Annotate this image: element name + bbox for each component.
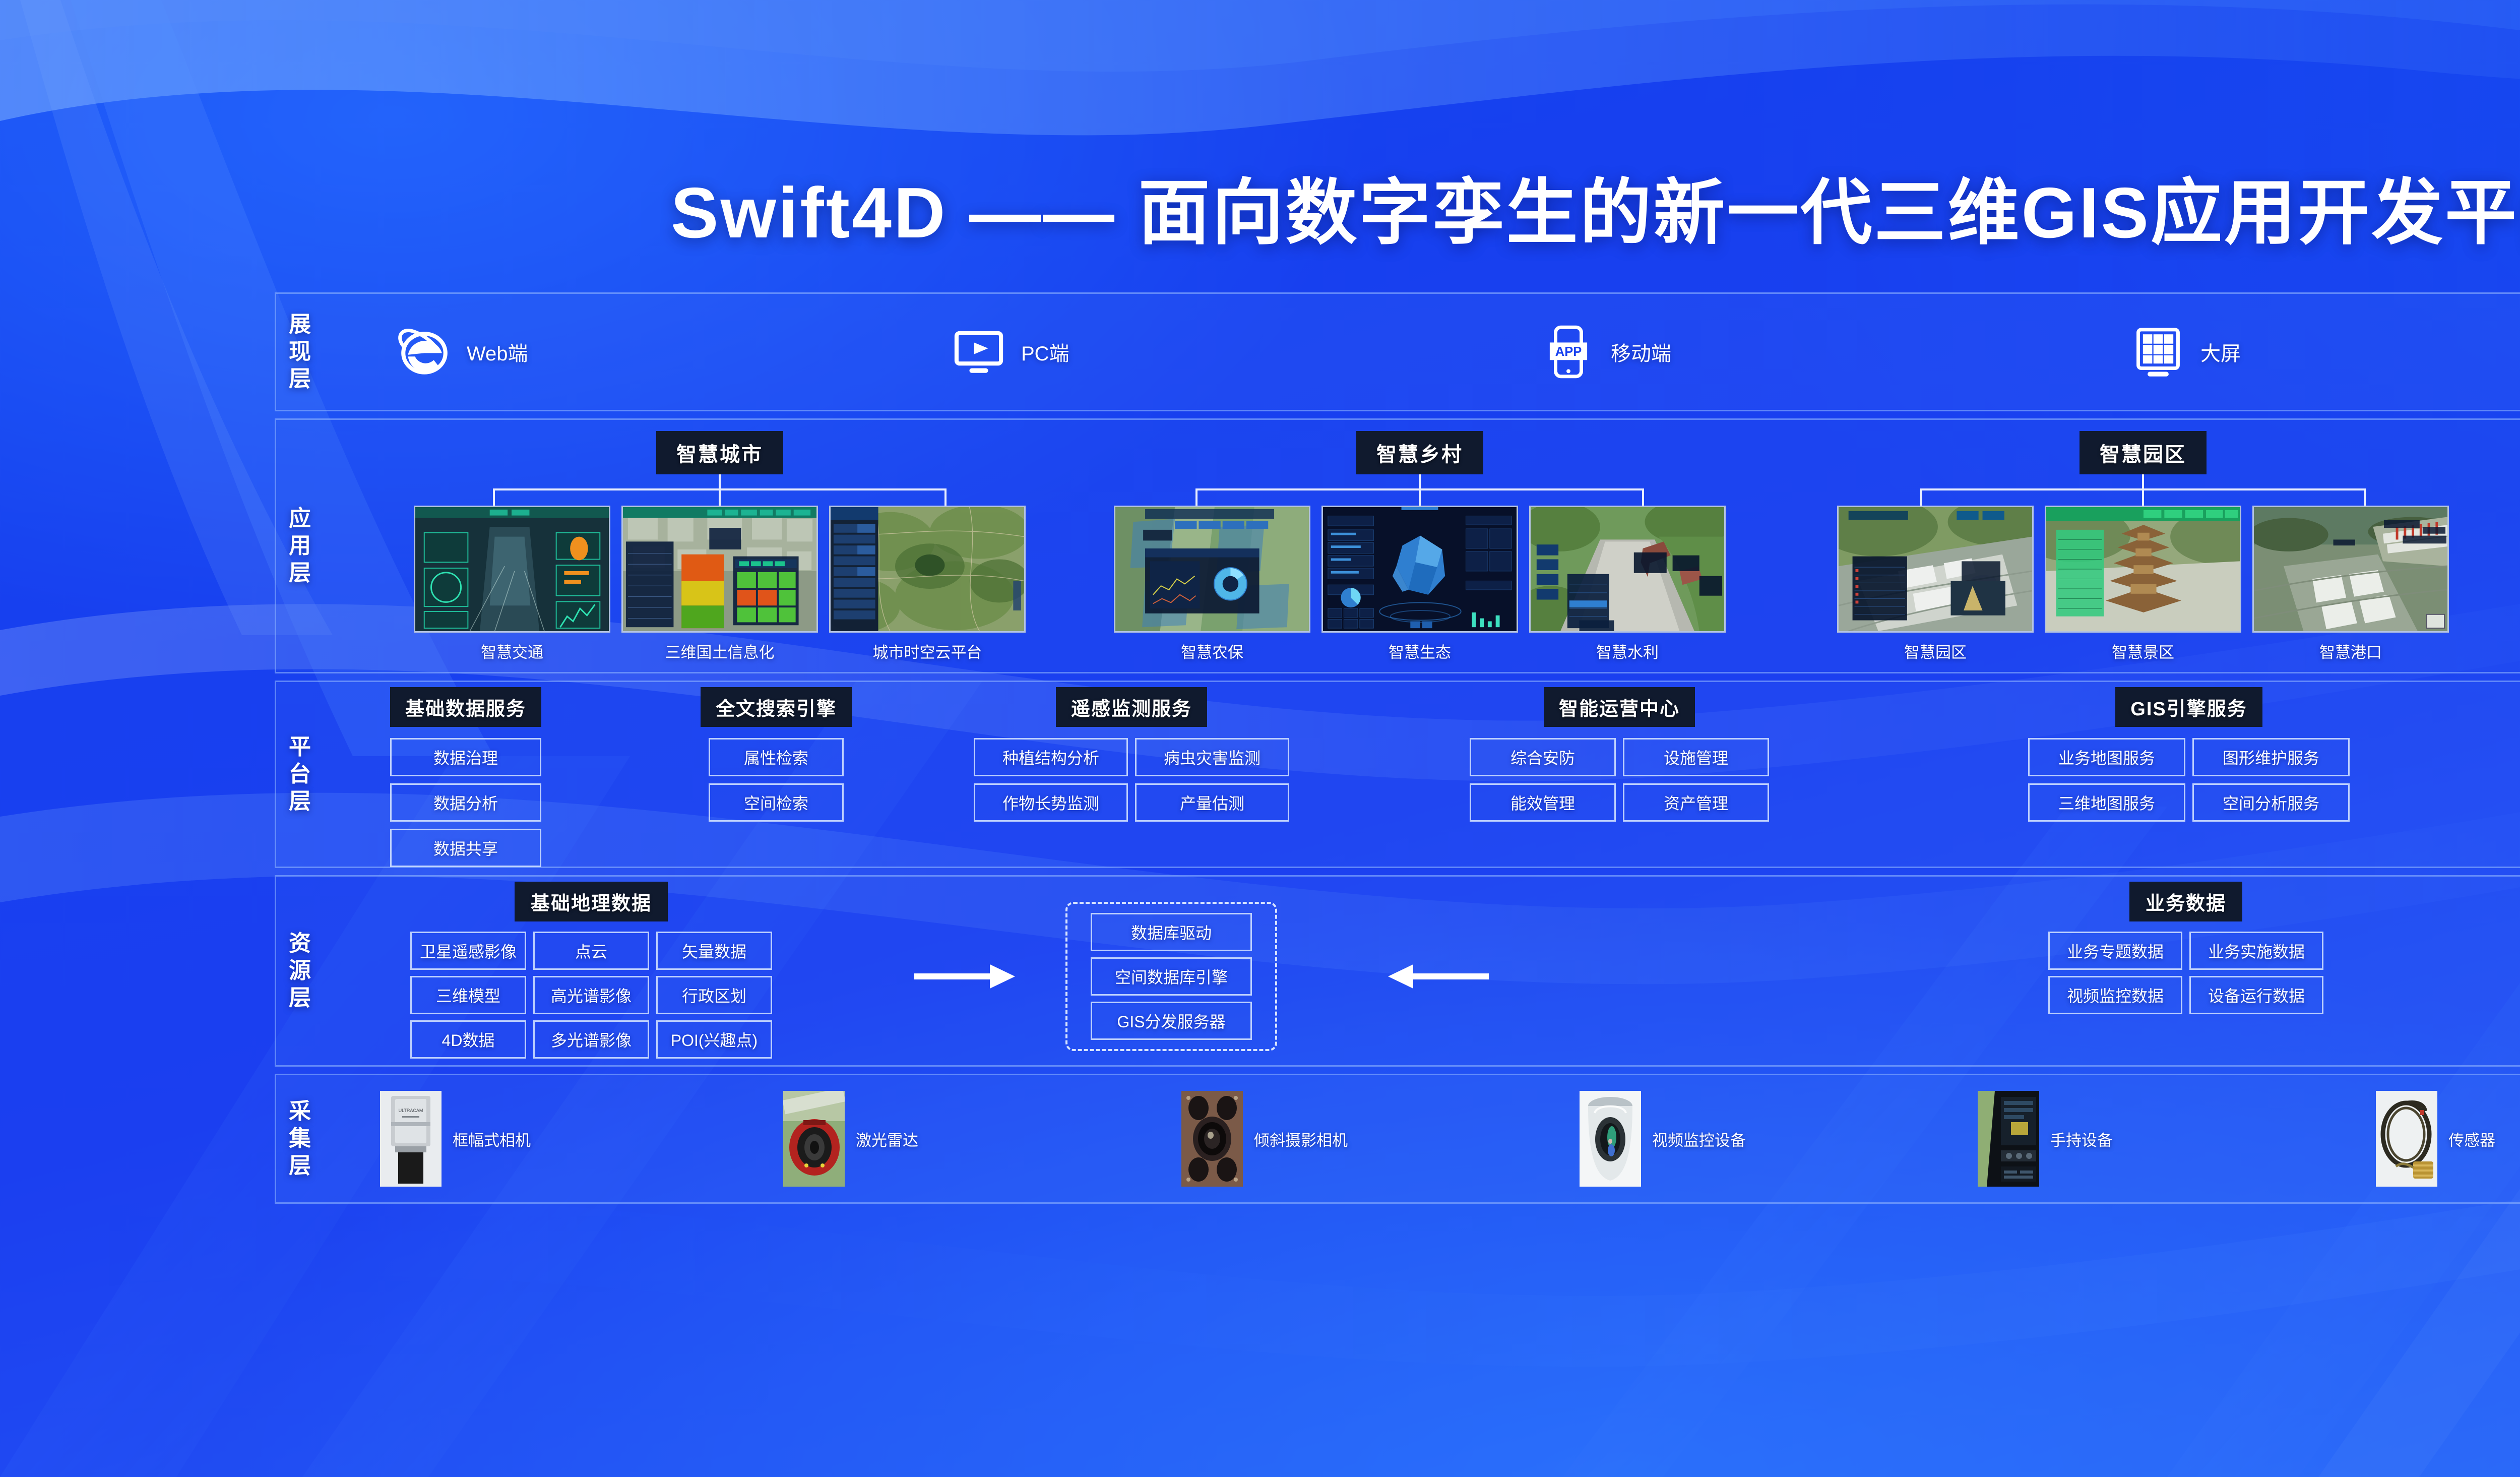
collection-item-frame-camera[interactable]: ULTRACAM 框幅式相机 <box>380 1091 783 1187</box>
resource-chip-gis-distribution-server[interactable]: GIS分发服务器 <box>1091 1002 1252 1040</box>
connector-smart-city <box>382 474 1057 506</box>
app-item-smart-ecology[interactable]: 智慧生态 <box>1321 506 1518 662</box>
collection-label-lidar: 激光雷达 <box>856 1128 918 1150</box>
thumb-land-3d-city <box>621 506 818 633</box>
platform-chip-yield-estimation[interactable]: 产量估测 <box>1135 783 1289 822</box>
resource-chip-spatial-db-engine[interactable]: 空间数据库引擎 <box>1091 957 1252 996</box>
layer-label-application: 应用层 <box>276 420 325 672</box>
platform-group-base-data: 基础数据服务 数据治理 数据分析 数据共享 <box>390 687 541 867</box>
resource-chip-admin-division[interactable]: 行政区划 <box>656 976 772 1014</box>
layer-label-application-text: 应用层 <box>289 505 312 586</box>
resource-chip-hyperspectral[interactable]: 高光谱影像 <box>533 976 649 1014</box>
application-body: 智慧城市 <box>325 420 2520 672</box>
resource-chip-video-surveillance-data[interactable]: 视频监控数据 <box>2048 976 2182 1014</box>
platform-chip-asset-management[interactable]: 资产管理 <box>1623 783 1769 822</box>
resource-title-business-data: 业务数据 <box>2129 882 2242 921</box>
presentation-item-pc[interactable]: PC端 <box>950 323 1539 381</box>
layer-label-presentation-text: 展现层 <box>289 311 312 392</box>
app-item-smart-scenic[interactable]: 智慧景区 <box>2045 506 2241 662</box>
layer-presentation: 展现层 Web端 <box>275 292 2520 411</box>
presentation-item-web[interactable]: Web端 <box>395 323 950 381</box>
platform-chip-pest-monitoring[interactable]: 病虫灾害监测 <box>1135 738 1289 776</box>
platform-chip-integrated-security[interactable]: 综合安防 <box>1470 738 1616 776</box>
app-group-smart-village: 智慧乡村 <box>1090 420 1750 672</box>
resource-group-db-engine: 数据库驱动 空间数据库引擎 GIS分发服务器 <box>1065 902 1277 1051</box>
large-screen-grid-icon <box>2129 323 2187 381</box>
svg-text:ULTRACAM: ULTRACAM <box>399 1108 423 1113</box>
resource-chip-poi[interactable]: POI(兴趣点) <box>656 1020 772 1059</box>
resource-chip-multispectral[interactable]: 多光谱影像 <box>533 1020 649 1059</box>
resource-chip-database-driver[interactable]: 数据库驱动 <box>1091 913 1252 951</box>
thumb-frame-camera: ULTRACAM <box>380 1091 442 1187</box>
arrow-right-icon <box>914 961 1015 992</box>
app-item-smart-park[interactable]: 智慧园区 <box>1837 506 2034 662</box>
resource-chip-business-thematic-data[interactable]: 业务专题数据 <box>2048 932 2182 970</box>
layer-label-resource: 资源层 <box>276 877 325 1065</box>
arrow-left-icon <box>1388 961 1489 992</box>
connector-smart-park <box>1815 474 2471 506</box>
thumb-water-conservancy-3d <box>1529 506 1726 633</box>
platform-group-intelligent-ops: 智能运营中心 综合安防 设施管理 能效管理 资产管理 <box>1470 687 1769 822</box>
collection-label-cctv: 视频监控设备 <box>1652 1128 1746 1150</box>
thumb-industrial-park-3d <box>1837 506 2034 633</box>
layer-application: 应用层 智慧城市 <box>275 418 2520 673</box>
thumb-oblique-camera <box>1181 1091 1243 1187</box>
platform-chip-data-sharing[interactable]: 数据共享 <box>390 829 541 867</box>
platform-group-fulltext-search: 全文搜索引擎 属性检索 空间检索 <box>701 687 852 822</box>
platform-chip-spatial-search[interactable]: 空间检索 <box>709 783 844 822</box>
resource-group-base-geo: 基础地理数据 卫星遥感影像 三维模型 4D数据 点云 高光谱影像 多光谱影像 <box>410 882 772 1059</box>
platform-title-base-data: 基础数据服务 <box>390 687 541 727</box>
thumb-lidar-scanner <box>783 1091 845 1187</box>
presentation-item-bigscreen[interactable]: 大屏 <box>2129 323 2520 381</box>
platform-title-fulltext-search: 全文搜索引擎 <box>701 687 852 727</box>
presentation-body: Web端 PC端 APP <box>325 294 2520 410</box>
app-caption-land-info: 三维国土信息化 <box>665 640 775 662</box>
thumb-sensor-coil <box>2376 1091 2437 1187</box>
resource-chip-vector-data[interactable]: 矢量数据 <box>656 932 772 970</box>
platform-title-gis-engine: GIS引擎服务 <box>2115 687 2262 727</box>
page-title-wrapper: Swift4D —— 面向数字孪生的新一代三维GIS应用开发平台 <box>0 177 2520 249</box>
platform-chip-energy-management[interactable]: 能效管理 <box>1470 783 1616 822</box>
layer-label-collection-text: 采集层 <box>289 1098 312 1179</box>
app-caption-smart-traffic: 智慧交通 <box>481 640 543 662</box>
resource-chip-equipment-operation-data[interactable]: 设备运行数据 <box>2189 976 2323 1014</box>
resource-group-business-data: 业务数据 业务专题数据 视频监控数据 业务实施数据 设备运行数据 <box>2048 882 2323 1014</box>
app-item-smart-traffic[interactable]: 智慧交通 <box>414 506 610 662</box>
platform-chip-planting-structure[interactable]: 种植结构分析 <box>974 738 1128 776</box>
resource-chip-satellite-imagery[interactable]: 卫星遥感影像 <box>410 932 526 970</box>
platform-chip-data-governance[interactable]: 数据治理 <box>390 738 541 776</box>
app-caption-smart-water: 智慧水利 <box>1596 640 1659 662</box>
thumb-port-aerial <box>2252 506 2449 633</box>
thumb-spatiotemporal-map <box>829 506 1026 633</box>
app-item-spatiotemporal-cloud[interactable]: 城市时空云平台 <box>829 506 1026 662</box>
app-group-title-smart-village: 智慧乡村 <box>1356 431 1483 474</box>
platform-title-intelligent-ops: 智能运营中心 <box>1544 687 1695 727</box>
platform-chip-data-analysis[interactable]: 数据分析 <box>390 783 541 822</box>
layer-label-resource-text: 资源层 <box>289 930 312 1011</box>
resource-title-base-geo: 基础地理数据 <box>515 882 668 921</box>
platform-chip-attribute-search[interactable]: 属性检索 <box>709 738 844 776</box>
thumb-farmland-parcels <box>1114 506 1310 633</box>
layer-label-collection: 采集层 <box>276 1075 325 1202</box>
app-group-title-smart-park: 智慧园区 <box>2080 431 2207 474</box>
collection-item-sensor[interactable]: 传感器 <box>2376 1091 2520 1187</box>
layer-label-platform-text: 平台层 <box>289 733 312 815</box>
presentation-label-bigscreen: 大屏 <box>2200 337 2241 366</box>
layer-label-presentation: 展现层 <box>276 294 325 410</box>
collection-label-handheld: 手持设备 <box>2050 1128 2113 1150</box>
app-caption-spatiotemporal-cloud: 城市时空云平台 <box>873 640 982 662</box>
platform-chip-crop-growth[interactable]: 作物长势监测 <box>974 783 1128 822</box>
internet-explorer-icon <box>395 323 454 381</box>
monitor-play-icon <box>950 323 1008 381</box>
page-title: Swift4D —— 面向数字孪生的新一代三维GIS应用开发平台 <box>671 177 2520 249</box>
platform-chip-business-map-service[interactable]: 业务地图服务 <box>2028 738 2185 776</box>
collection-body: ULTRACAM 框幅式相机 <box>325 1075 2520 1202</box>
thumb-scenic-pagoda-3d <box>2045 506 2241 633</box>
resource-chip-3d-model[interactable]: 三维模型 <box>410 976 526 1014</box>
collection-item-lidar[interactable]: 激光雷达 <box>783 1091 1181 1187</box>
app-caption-smart-ecology: 智慧生态 <box>1389 640 1451 662</box>
app-item-smart-water[interactable]: 智慧水利 <box>1529 506 1726 662</box>
svg-text:APP: APP <box>1555 345 1582 359</box>
platform-group-remote-sensing: 遥感监测服务 种植结构分析 病虫灾害监测 作物长势监测 产量估测 <box>972 687 1291 822</box>
collection-item-cctv[interactable]: 视频监控设备 <box>1580 1091 1978 1187</box>
presentation-label-mobile: 移动端 <box>1611 337 1671 366</box>
thumb-traffic-dashboard <box>414 506 610 633</box>
app-caption-smart-agri-insurance: 智慧农保 <box>1181 640 1243 662</box>
thumb-handheld-device <box>1978 1091 2039 1187</box>
presentation-label-web: Web端 <box>467 337 528 366</box>
layer-label-platform: 平台层 <box>276 682 325 867</box>
collection-item-oblique-camera[interactable]: 倾斜摄影相机 <box>1181 1091 1580 1187</box>
thumb-ecology-dashboard <box>1321 506 1518 633</box>
platform-group-gis-engine: GIS引擎服务 业务地图服务 图形维护服务 三维地图服务 空间分析服务 <box>2028 687 2350 822</box>
architecture-diagram: 展现层 Web端 <box>275 292 2520 1204</box>
thumb-cctv-dome-camera <box>1580 1091 1641 1187</box>
smartphone-app-icon: APP <box>1539 323 1598 381</box>
resource-chip-4d-data[interactable]: 4D数据 <box>410 1020 526 1059</box>
presentation-item-mobile[interactable]: APP 移动端 <box>1539 323 2129 381</box>
app-caption-smart-scenic: 智慧景区 <box>2112 640 2174 662</box>
platform-chip-spatial-analysis-service[interactable]: 空间分析服务 <box>2192 783 2350 822</box>
app-item-land-info[interactable]: 三维国土信息化 <box>621 506 818 662</box>
app-item-smart-agri-insurance[interactable]: 智慧农保 <box>1114 506 1310 662</box>
resource-chip-point-cloud[interactable]: 点云 <box>533 932 649 970</box>
platform-chip-3d-map-service[interactable]: 三维地图服务 <box>2028 783 2185 822</box>
layer-resource: 资源层 基础地理数据 卫星遥感影像 三维模型 4D数据 点云 高光谱 <box>275 875 2520 1067</box>
layer-platform: 平台层 基础数据服务 数据治理 数据分析 数据共享 全文搜索引擎 属性检索 空间… <box>275 681 2520 868</box>
connector-smart-village <box>1090 474 1750 506</box>
platform-title-remote-sensing: 遥感监测服务 <box>1056 687 1207 727</box>
platform-chip-graphic-maintenance-service[interactable]: 图形维护服务 <box>2192 738 2350 776</box>
platform-chip-facility-management[interactable]: 设施管理 <box>1623 738 1769 776</box>
collection-item-handheld[interactable]: 手持设备 <box>1978 1091 2376 1187</box>
app-group-title-smart-city: 智慧城市 <box>656 431 783 474</box>
app-group-smart-park: 智慧园区 <box>1815 420 2471 672</box>
platform-body: 基础数据服务 数据治理 数据分析 数据共享 全文搜索引擎 属性检索 空间检索 <box>325 682 2520 867</box>
presentation-label-pc: PC端 <box>1021 337 1069 366</box>
collection-label-oblique-camera: 倾斜摄影相机 <box>1254 1128 1348 1150</box>
app-caption-smart-park: 智慧园区 <box>1904 640 1967 662</box>
resource-chip-business-implementation-data[interactable]: 业务实施数据 <box>2189 932 2323 970</box>
collection-label-frame-camera: 框幅式相机 <box>453 1128 531 1150</box>
app-item-smart-port[interactable]: 智慧港口 <box>2252 506 2449 662</box>
app-caption-smart-port: 智慧港口 <box>2319 640 2382 662</box>
collection-label-sensor: 传感器 <box>2448 1128 2495 1150</box>
app-group-smart-city: 智慧城市 <box>382 420 1057 672</box>
layer-collection: 采集层 ULTRACAM <box>275 1074 2520 1204</box>
resource-body: 基础地理数据 卫星遥感影像 三维模型 4D数据 点云 高光谱影像 多光谱影像 <box>325 877 2520 1065</box>
